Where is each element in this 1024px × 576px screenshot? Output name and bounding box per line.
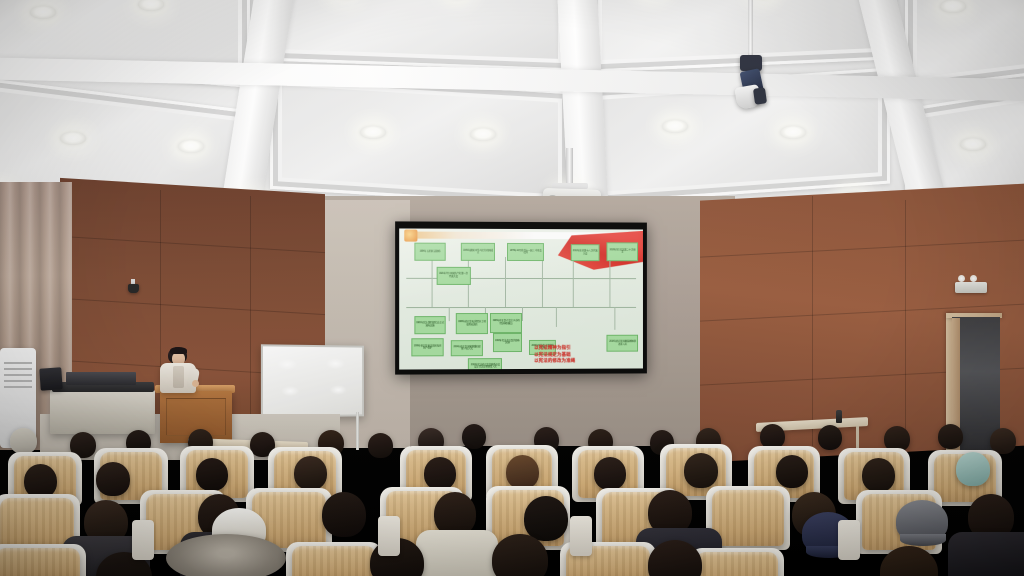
audience-head [684,453,718,488]
timeline-box: 1954年 五四宪 法颁布 [414,243,446,261]
slide-surface: 1954年 五四宪 法颁布 1949年建国 中华人民共 和国成立 1978年12… [399,228,643,369]
timeline-box: 1982年宪法 第四部宪法 正式颁布实施 [414,316,446,334]
slide-red-emphasis-text: 以宪法精神为指引以宪法规定为基础以宪法的修改为准绳 [534,345,575,364]
timeline-box: 1978年12月党 的十一届三 中全会召开 [507,243,544,261]
audience-head [424,457,456,490]
timeline-tick [556,307,557,327]
timeline-tick [522,307,523,321]
audience-head [818,425,842,450]
console-control-panel [66,372,136,385]
audience-head [506,455,539,489]
audience-head [196,458,228,491]
slide-header-emblem [404,230,417,242]
audience-head [776,455,808,488]
seat-backrest [292,546,376,576]
timeline-box: 2018年3月 宪法第二十 次修正 [607,242,638,262]
ceiling-downlight [178,140,204,153]
water-bottle [836,410,842,423]
audience-head [368,433,393,458]
ceiling-downlight [360,126,386,139]
wall-camera [128,284,139,293]
mobile-whiteboard [261,344,364,417]
timeline-tick [573,257,574,307]
timeline-tick [609,257,610,307]
audience-head [24,464,57,498]
cap-brim [900,534,946,546]
seat-backrest [696,552,778,576]
ac-grill [4,368,31,370]
audience-head [862,458,895,492]
timeline-box: 1993年修正案 社会主义市场 经济体制确立 [490,313,522,333]
wood-seam [812,196,813,446]
audience-head [462,424,486,449]
timeline-tick [505,257,506,307]
wood-seam [250,196,251,440]
ceiling-downlight [662,120,688,133]
wood-seam [905,200,906,440]
av-console-desk [50,390,155,434]
ceiling-coffer [270,0,570,71]
presenter-hand [192,380,199,387]
emergency-light [955,282,987,293]
ceiling-coffer [270,73,570,207]
audience-shoulders [416,530,498,576]
timeline-tick [449,307,450,321]
timeline-box: 2018年修正案 国家监察体制 改革入宪 [607,335,638,352]
whiteboard-glare [281,386,299,396]
red-line-2: 以宪法规定为基础 [534,351,571,356]
seat-armrest [378,516,400,556]
ac-grill [4,386,31,388]
seat-armrest [570,516,592,556]
seat-backrest [0,548,80,576]
emergency-light-bulb [958,275,965,282]
audience-head [10,428,37,454]
ceiling-downlight [960,138,986,151]
camera-drop-pole [748,0,753,60]
ceiling-downlight [780,126,806,139]
ceiling-downlight [60,132,86,145]
whiteboard-glare [329,385,346,395]
audience-head [594,457,626,490]
timeline-tick [614,307,615,329]
projection-screen: 1954年 五四宪 法颁布 1949年建国 中华人民共 和国成立 1978年12… [395,221,647,374]
audience-head [524,496,568,541]
ceiling-downlight [470,128,496,141]
ceiling-camera-lens [753,87,767,105]
presenter-inner-top [173,366,184,388]
desk-leg [856,426,859,450]
seat-backrest [712,490,784,546]
timeline-box: 2004年修正案 国家尊重和保障 人权入宪 [451,340,483,357]
whiteboard-glare [277,359,297,370]
seat-armrest [838,520,860,560]
projector-pole [566,148,573,186]
timeline-box: 1949年建国 中华人民共 和国成立 [461,243,495,261]
red-line-3: 以宪法的修改为准绳 [534,358,575,363]
timeline-box: 2018年宪法修正案 监察委员会设立 宪法宣誓制度入宪 [468,358,502,370]
lecture-hall-photo: 1954年 五四宪 法颁布 1949年建国 中华人民共 和国成立 1978年12… [0,0,1024,576]
audience-head [938,424,963,449]
audience-head [96,462,130,496]
timeline-box-secondary: 1921年7月 中国共产党 第一次代表大会 [436,267,470,285]
ac-grill [4,374,31,376]
presenter-hair-fringe [170,347,187,354]
timeline-box: 1988年修正案 私营经济 土地使用权流转 [456,313,488,334]
timeline-tick [541,257,542,307]
red-line-1: 以宪法精神为指引 [534,345,571,350]
console-monitor [39,367,62,390]
ceiling-downlight [30,6,56,19]
seat-armrest [132,520,154,560]
ac-grill [4,362,31,364]
emergency-light-bulb [970,275,977,282]
fur-trimmed-hood [166,534,286,576]
ceiling-downlight [940,0,966,13]
audience-shoulders [948,532,1024,576]
timeline-box: 1993年宪法 修正案的颁布实施 [493,333,522,353]
timeline-box: 2012年党 的第十八 次代表大会 [571,245,600,262]
audience-head [294,456,327,490]
timeline-tick [431,257,432,308]
whiteboard-glare [325,358,344,369]
ceiling [0,0,1024,210]
whiteboard-leg [356,412,359,450]
ac-grill [4,380,31,382]
audience-head [956,452,990,486]
timeline-box: 1999年修正案 依法治国 私有财产保护 [412,338,444,356]
audience-head [322,492,366,537]
